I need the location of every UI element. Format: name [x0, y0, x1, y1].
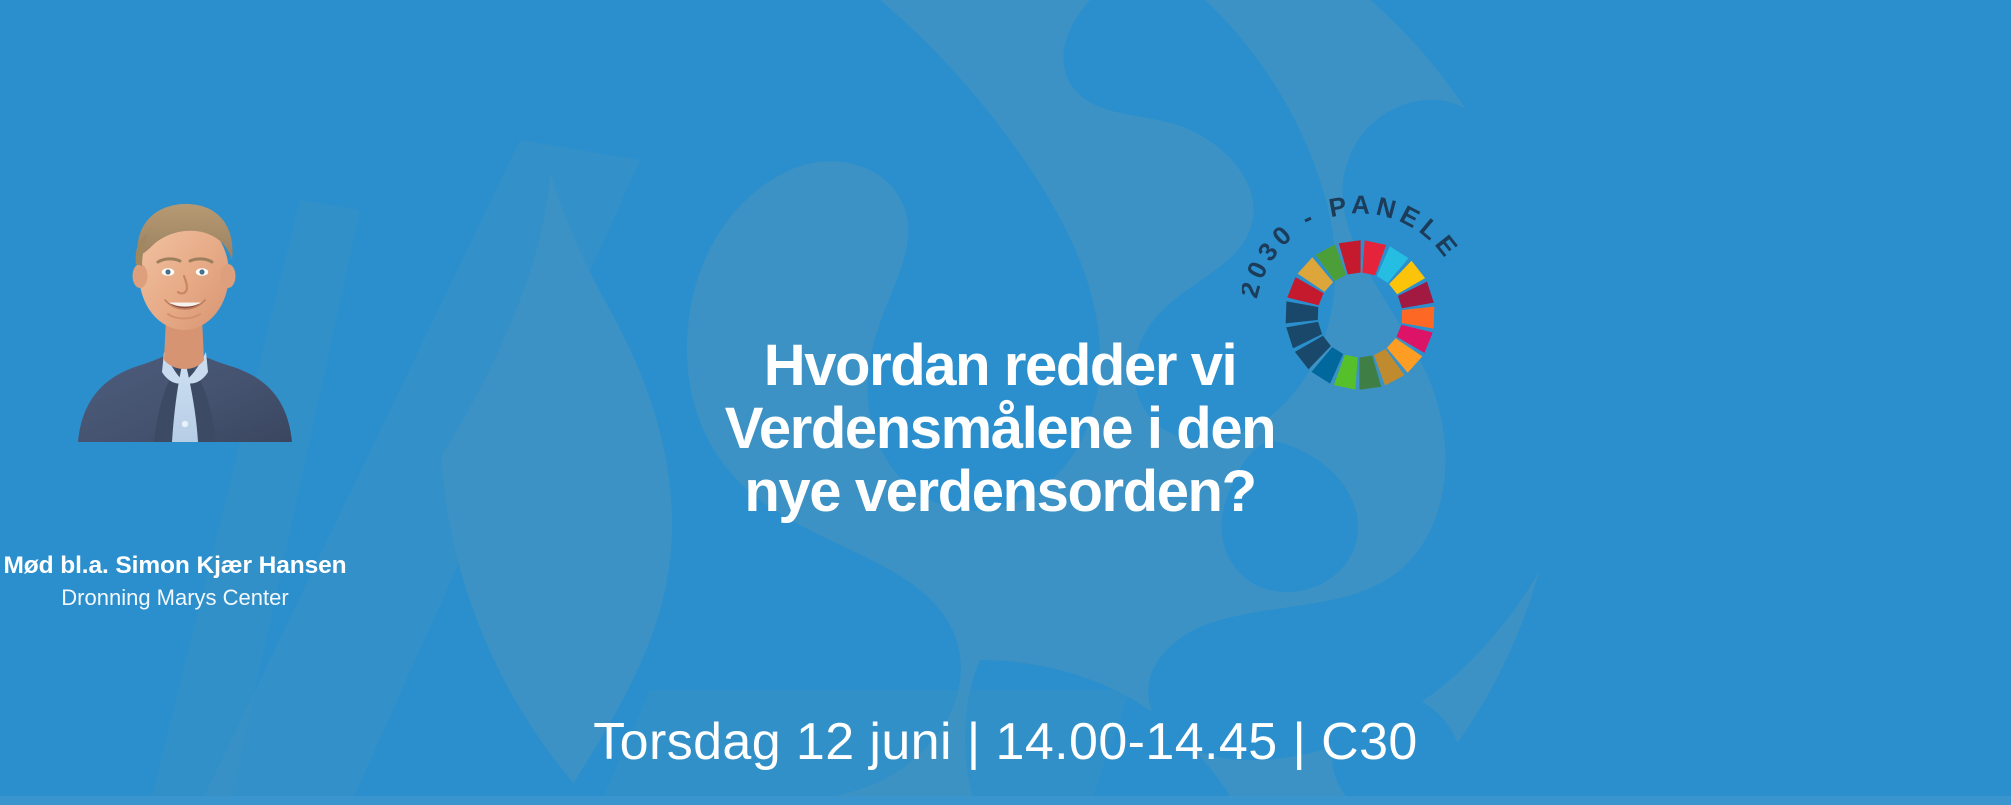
headline-line-1: Hvordan redder vi [680, 334, 1320, 397]
wheel-seg-10 [1402, 305, 1435, 328]
speaker-portrait [68, 192, 300, 442]
sdg-wheel-segments [1286, 240, 1435, 390]
speaker-name: Mød bl.a. Simon Kjær Hansen [0, 552, 350, 579]
logo-wordmark: 2030 - PANELET [1242, 167, 1467, 301]
wheel-seg-1 [1286, 301, 1319, 324]
page-title: Hvordan redder vi Verdensmålene i den ny… [680, 334, 1320, 524]
speaker-caption: Mød bl.a. Simon Kjær Hansen Dronning Mar… [0, 552, 350, 611]
event-banner: Mød bl.a. Simon Kjær Hansen Dronning Mar… [0, 0, 2011, 805]
headline-line-2: Verdensmålene i den [680, 397, 1320, 460]
2030-panelet-logo: 2030 - PANELET [1242, 167, 1472, 392]
portrait-head [133, 204, 236, 330]
speaker-organisation: Dronning Marys Center [0, 586, 350, 611]
session-details: Torsdag 12 juni | 14.00-14.45 | C30 [0, 716, 2011, 768]
headline-line-3: nye verdensorden? [680, 460, 1320, 523]
bottom-accent-strip [0, 796, 2011, 805]
sdg-wheel-icon: 2030 - PANELET [1242, 167, 1472, 392]
speaker-portrait-illustration [68, 192, 300, 442]
